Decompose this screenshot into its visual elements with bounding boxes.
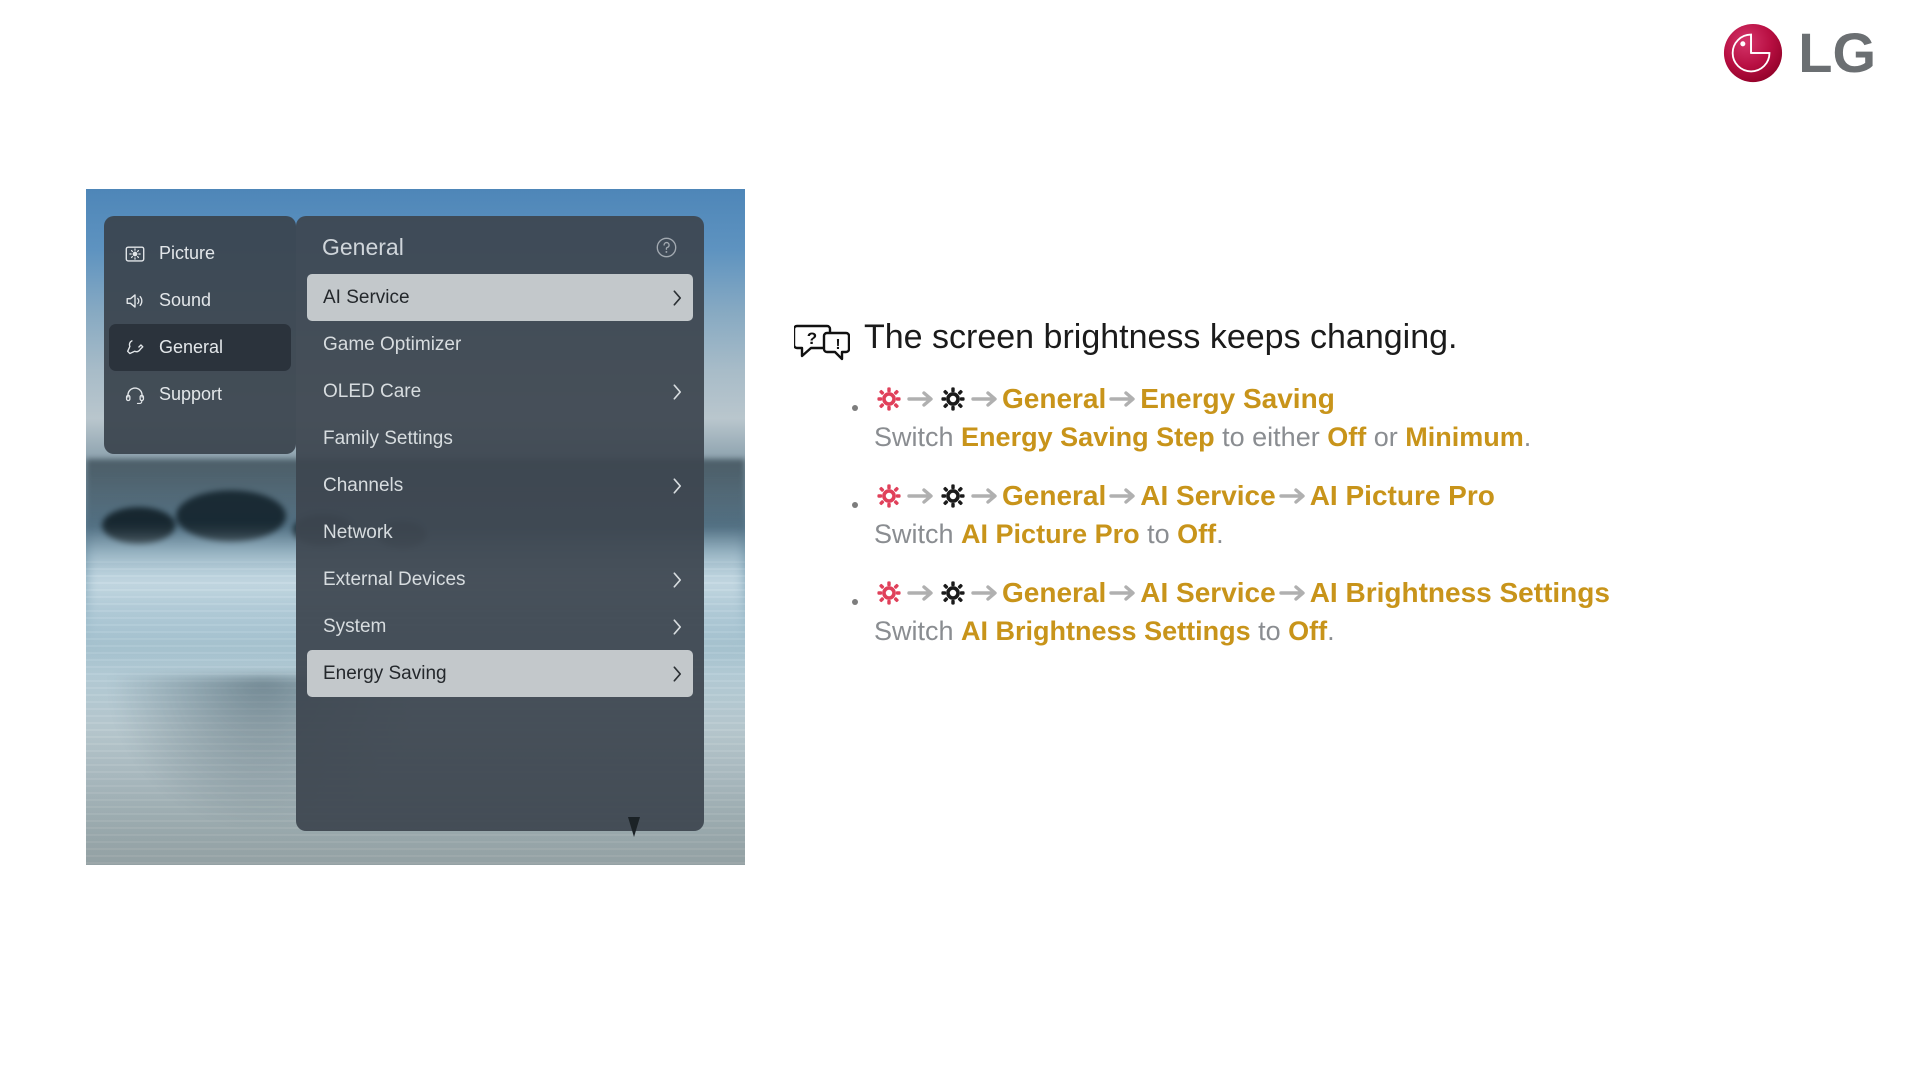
path-segment: General <box>1002 482 1106 510</box>
switch-instruction: Switch Energy Saving Step to either Off … <box>874 421 1854 455</box>
menu-item-oled-care[interactable]: OLED Care <box>307 368 693 415</box>
sidebar-item-label: Picture <box>159 243 215 264</box>
arrow-right-icon <box>1106 580 1140 606</box>
bullet-dot <box>852 502 858 508</box>
menu-item-network[interactable]: Network <box>307 509 693 556</box>
switch-instruction: Switch AI Brightness Settings to Off. <box>874 615 1854 649</box>
arrow-right-icon <box>1106 386 1140 412</box>
switch-suffix: . <box>1327 616 1335 646</box>
panel-title: General <box>322 234 404 261</box>
settings-gear-black-icon <box>938 384 968 414</box>
arrow-right-icon <box>968 580 1002 606</box>
settings-gear-red-icon <box>874 578 904 608</box>
sidebar-item-support[interactable]: Support <box>109 371 291 418</box>
settings-gear-black-icon <box>938 481 968 511</box>
menu-item-label: Channels <box>323 475 403 497</box>
question-heading: ? ! The screen brightness keeps changing… <box>794 318 1854 362</box>
path-segment: AI Service <box>1140 579 1275 607</box>
switch-mid: to either <box>1222 422 1320 452</box>
menu-item-label: Energy Saving <box>323 663 447 685</box>
sidebar-item-sound[interactable]: Sound <box>109 277 291 324</box>
switch-prefix: Switch <box>874 616 954 646</box>
list-item: General Energy Saving Switch Energy Savi… <box>852 384 1854 455</box>
switch-suffix: . <box>1524 422 1532 452</box>
switch-conj: or <box>1374 422 1398 452</box>
menu-item-label: System <box>323 616 386 638</box>
arrow-right-icon <box>904 386 938 412</box>
path-segment: General <box>1002 579 1106 607</box>
settings-menu-list: AI Service Game Optimizer OLED Care Fami… <box>296 271 704 697</box>
switch-value-2: Minimum <box>1405 422 1524 452</box>
bullet-dot <box>852 405 858 411</box>
switch-value-1: Off <box>1177 519 1216 549</box>
arrow-right-icon <box>1106 483 1140 509</box>
headset-icon <box>124 384 146 406</box>
arrow-right-icon <box>1276 580 1310 606</box>
menu-item-label: AI Service <box>323 287 410 309</box>
menu-item-family-settings[interactable]: Family Settings <box>307 415 693 462</box>
switch-prefix: Switch <box>874 422 954 452</box>
instruction-bullet-list: General Energy Saving Switch Energy Savi… <box>794 384 1854 648</box>
chevron-right-icon <box>672 477 683 495</box>
chevron-right-icon <box>672 618 683 636</box>
arrow-right-icon <box>1276 483 1310 509</box>
question-circle-icon[interactable] <box>655 236 678 259</box>
settings-panel-header: General <box>296 216 704 271</box>
settings-path: General AI Service AI Brightness Setting… <box>874 578 1854 608</box>
arrow-right-icon <box>968 483 1002 509</box>
instructions-panel: ? ! The screen brightness keeps changing… <box>794 318 1854 674</box>
menu-item-label: Game Optimizer <box>323 334 461 356</box>
menu-item-label: OLED Care <box>323 381 421 403</box>
tv-general-settings-panel: General AI Service Game Optimizer OLED C… <box>296 216 704 831</box>
menu-item-energy-saving[interactable]: Energy Saving <box>307 650 693 697</box>
switch-value-1: Off <box>1327 422 1366 452</box>
bullet-dot <box>852 599 858 605</box>
chevron-right-icon <box>672 289 683 307</box>
path-segment: General <box>1002 385 1106 413</box>
bullet-content: General AI Service AI Brightness Setting… <box>874 578 1854 649</box>
svg-text:?: ? <box>807 329 817 348</box>
menu-item-game-optimizer[interactable]: Game Optimizer <box>307 321 693 368</box>
arrow-right-icon <box>968 386 1002 412</box>
lg-circle-face-logo-icon <box>1722 22 1784 84</box>
switch-target: Energy Saving Step <box>961 422 1215 452</box>
switch-value-1: Off <box>1288 616 1327 646</box>
menu-item-system[interactable]: System <box>307 603 693 650</box>
switch-target: AI Picture Pro <box>961 519 1140 549</box>
switch-suffix: . <box>1216 519 1224 549</box>
sidebar-item-general[interactable]: General <box>109 324 291 371</box>
menu-item-ai-service[interactable]: AI Service <box>307 274 693 321</box>
path-segment: Energy Saving <box>1140 385 1335 413</box>
list-item: General AI Service AI Picture Pro Switch… <box>852 481 1854 552</box>
svg-text:!: ! <box>836 336 841 353</box>
page-title: The screen brightness keeps changing. <box>864 318 1457 357</box>
settings-gear-black-icon <box>938 578 968 608</box>
chevron-right-icon <box>672 665 683 683</box>
sidebar-item-label: General <box>159 337 223 358</box>
menu-item-label: Family Settings <box>323 428 453 450</box>
menu-item-external-devices[interactable]: External Devices <box>307 556 693 603</box>
switch-mid: to <box>1258 616 1281 646</box>
path-segment: AI Picture Pro <box>1310 482 1495 510</box>
path-segment: AI Brightness Settings <box>1310 579 1610 607</box>
arrow-right-icon <box>904 580 938 606</box>
settings-gear-red-icon <box>874 384 904 414</box>
tv-settings-screenshot: Picture Sound General Support <box>86 189 745 865</box>
menu-item-channels[interactable]: Channels <box>307 462 693 509</box>
menu-item-label: Network <box>323 522 393 544</box>
switch-mid: to <box>1147 519 1170 549</box>
list-item: General AI Service AI Brightness Setting… <box>852 578 1854 649</box>
lg-wordmark: LG <box>1798 25 1876 81</box>
path-segment: AI Service <box>1140 482 1275 510</box>
brightness-icon <box>124 243 146 265</box>
bullet-content: General Energy Saving Switch Energy Savi… <box>874 384 1854 455</box>
sidebar-item-picture[interactable]: Picture <box>109 230 291 277</box>
wrench-icon <box>124 337 146 359</box>
tv-category-panel: Picture Sound General Support <box>104 216 296 454</box>
tv-cursor-pointer <box>628 817 640 837</box>
arrow-right-icon <box>904 483 938 509</box>
sidebar-item-label: Support <box>159 384 222 405</box>
lg-logo: LG <box>1722 22 1876 84</box>
speaker-icon <box>124 290 146 312</box>
settings-path: General Energy Saving <box>874 384 1854 414</box>
settings-path: General AI Service AI Picture Pro <box>874 481 1854 511</box>
switch-instruction: Switch AI Picture Pro to Off. <box>874 518 1854 552</box>
sidebar-item-label: Sound <box>159 290 211 311</box>
chevron-right-icon <box>672 383 683 401</box>
bullet-content: General AI Service AI Picture Pro Switch… <box>874 481 1854 552</box>
menu-item-label: External Devices <box>323 569 466 591</box>
switch-target: AI Brightness Settings <box>961 616 1251 646</box>
switch-prefix: Switch <box>874 519 954 549</box>
question-answer-bubbles-icon: ? ! <box>794 322 850 362</box>
chevron-right-icon <box>672 571 683 589</box>
settings-gear-red-icon <box>874 481 904 511</box>
